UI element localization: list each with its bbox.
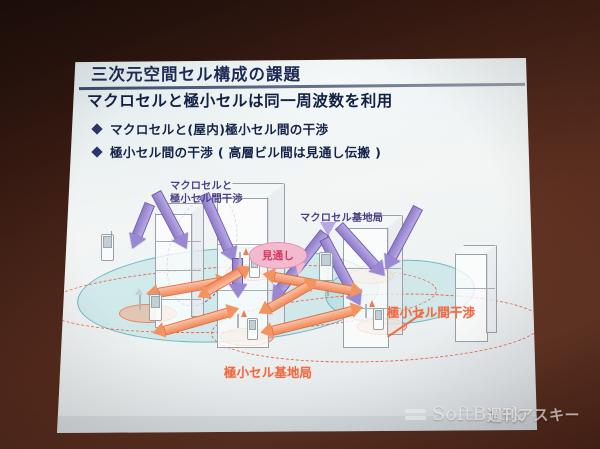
mobile-handset-icon xyxy=(319,252,333,281)
label-macro-base-station: マクロセル基地局 xyxy=(300,212,383,225)
building xyxy=(455,254,495,340)
two-bars-icon xyxy=(405,409,426,420)
projected-slide-photo: 三次元空間セル構成の課題 マクロセルと極小セルは同一周波数を利用 マクロセルと(… xyxy=(0,0,600,449)
diamond-bullet-icon xyxy=(91,123,102,134)
line-of-sight-callout: 見通し xyxy=(249,242,307,269)
uplink-arrow-icon xyxy=(241,310,247,317)
bullet-label: マクロセルと(屋内)極小セル間の干渉 xyxy=(110,119,328,138)
page-title: 三次元空間セル構成の課題 xyxy=(91,61,301,85)
slide-subtitle: マクロセルと極小セルは同一周波数を利用 xyxy=(87,89,393,111)
label-macro-interference: マクロセルと 極小セル間干渉 xyxy=(170,180,243,206)
bullet-item: 極小セル間の干渉 ( 高層ビル間は見通し伝搬 ) xyxy=(93,142,381,161)
watermark: 週刊アスキー xyxy=(487,404,580,425)
presentation-slide: 三次元空間セル構成の課題 マクロセルと極小セルは同一周波数を利用 マクロセルと(… xyxy=(57,58,539,433)
mobile-handset-icon xyxy=(149,294,162,321)
uplink-arrow-icon xyxy=(369,300,375,307)
bullet-item: マクロセルと(屋内)極小セル間の干渉 xyxy=(93,119,328,138)
mobile-handset-icon xyxy=(101,234,114,261)
micro-base-station-icon xyxy=(247,318,258,340)
label-micro-base-station: 極小セル基地局 xyxy=(224,363,312,381)
network-diagram: 見通し マクロセルと 極小セル間干渉 マクロセル基地局 極小セル間干渉 極小セル… xyxy=(57,176,539,416)
diamond-bullet-icon xyxy=(91,146,102,157)
micro-base-station-icon xyxy=(373,308,384,330)
bullet-label: 極小セル間の干渉 ( 高層ビル間は見通し伝搬 ) xyxy=(110,142,381,161)
callout-label: 見通し xyxy=(262,248,294,263)
label-micro-interference: 極小セル間干渉 xyxy=(387,303,475,321)
